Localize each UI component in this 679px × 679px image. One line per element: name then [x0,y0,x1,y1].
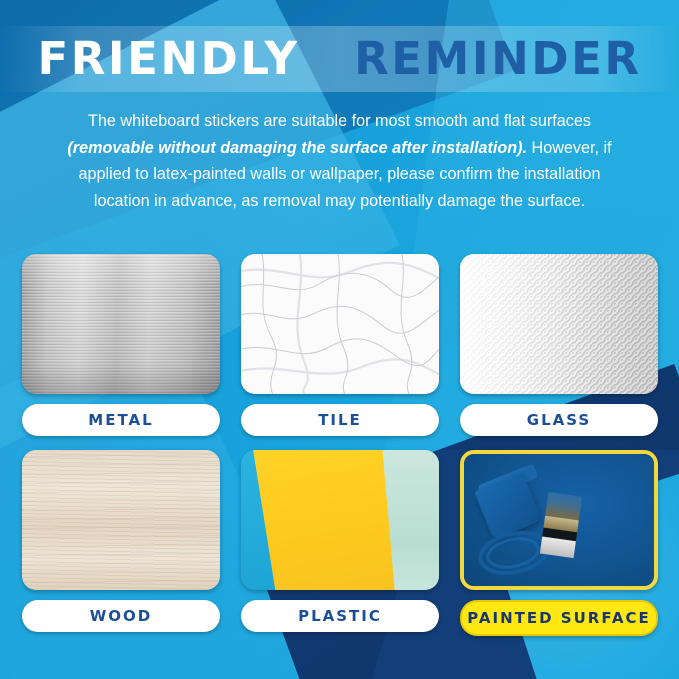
light-oak-grain-texture [22,450,220,590]
surface-thumbnail-tile [241,254,439,394]
plastic-sheets-texture [241,450,439,590]
surface-label-painted-surface: PAINTED SURFACE [460,600,658,636]
white-marble-texture [241,254,439,394]
surface-thumbnail-glass [460,254,658,394]
surface-card-metal[interactable]: METAL [22,254,220,436]
surface-thumbnail-plastic [241,450,439,590]
surface-label-metal: METAL [22,404,220,436]
frosted-glass-texture [460,254,658,394]
disclaimer-text-emphasis: (removable without damaging the surface … [67,139,527,157]
disclaimer-text-lead: The whiteboard stickers are suitable for… [88,112,591,130]
brushed-steel-texture [22,254,220,394]
title-word-reminder: REMINDER [354,32,641,85]
title-word-friendly: FRIENDLY [38,32,300,85]
surface-card-wood[interactable]: WOOD [22,450,220,636]
surface-card-plastic[interactable]: PLASTIC [241,450,439,636]
surface-grid: METAL [22,254,658,636]
surface-label-wood: WOOD [22,600,220,632]
surface-thumbnail-painted-surface [460,450,658,590]
poster-canvas: FRIENDLY REMINDER The whiteboard sticker… [0,0,679,679]
marble-vein-icon [241,254,439,394]
surface-thumbnail-metal [22,254,220,394]
blue-paint-wall-texture [464,454,654,586]
disclaimer-paragraph: The whiteboard stickers are suitable for… [52,108,627,214]
surface-card-glass[interactable]: GLASS [460,254,658,436]
surface-label-plastic: PLASTIC [241,600,439,632]
paintbrush-icon [540,492,582,558]
surface-card-tile[interactable]: TILE [241,254,439,436]
surface-label-tile: TILE [241,404,439,436]
surface-card-painted-surface[interactable]: PAINTED SURFACE [460,450,658,636]
page-title: FRIENDLY REMINDER [0,28,679,90]
surface-label-glass: GLASS [460,404,658,436]
surface-thumbnail-wood [22,450,220,590]
